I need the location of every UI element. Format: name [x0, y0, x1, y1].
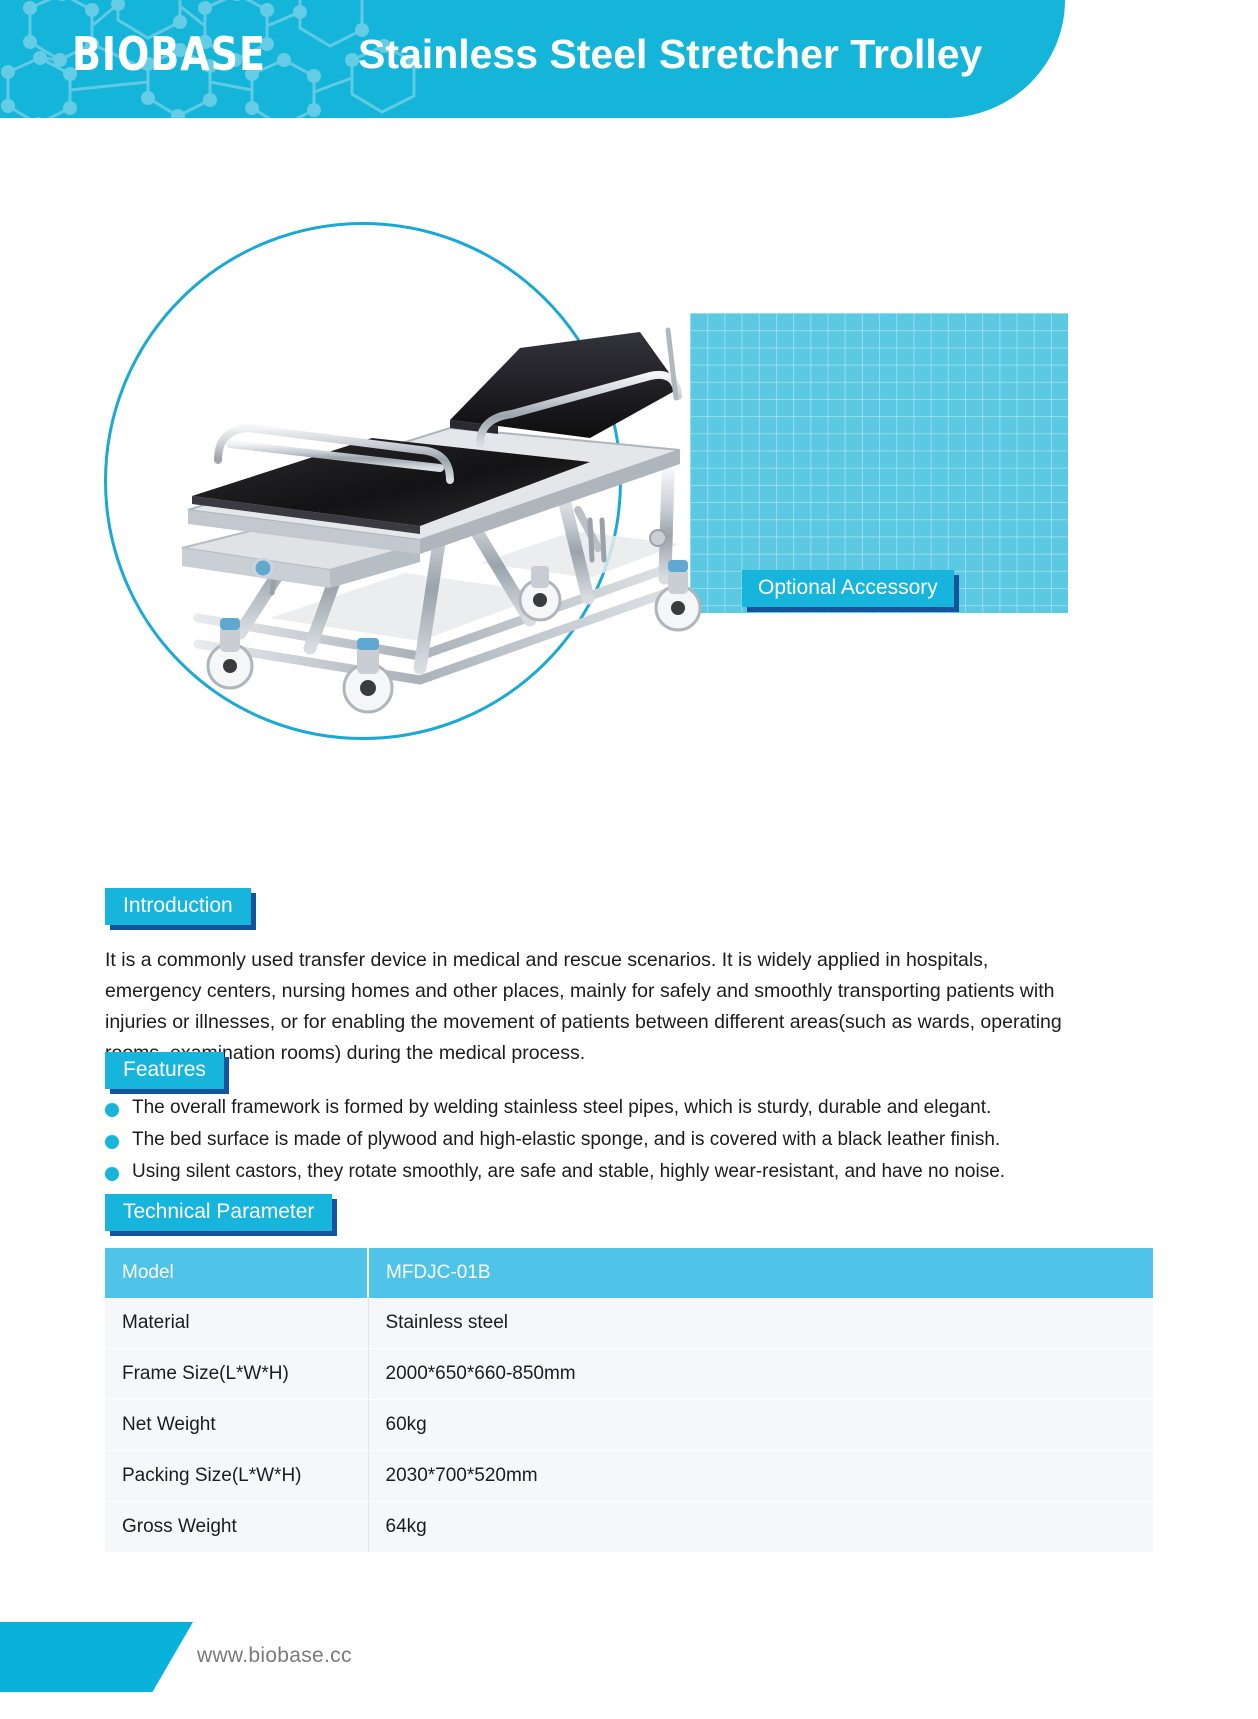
feature-text: Using silent castors, they rotate smooth…	[132, 1160, 1005, 1184]
table-cell-value: 2030*700*520mm	[368, 1451, 1153, 1502]
introduction-paragraph: It is a commonly used transfer device in…	[105, 945, 1073, 1069]
technical-parameter-badge: Technical Parameter	[105, 1194, 332, 1231]
table-row: Frame Size(L*W*H) 2000*650*660-850mm	[105, 1349, 1153, 1400]
table-cell-value: Stainless steel	[368, 1298, 1153, 1349]
table-row: Packing Size(L*W*H) 2030*700*520mm	[105, 1451, 1153, 1502]
list-item: The bed surface is made of plywood and h…	[105, 1128, 1105, 1152]
table-row: Material Stainless steel	[105, 1298, 1153, 1349]
features-badge: Features	[105, 1052, 224, 1089]
table-cell-value: MFDJC-01B	[368, 1248, 1153, 1298]
page-title: Stainless Steel Stretcher Trolley	[358, 31, 982, 78]
list-item: Using silent castors, they rotate smooth…	[105, 1160, 1105, 1184]
introduction-badge: Introduction	[105, 888, 251, 925]
table-cell-name: Material	[105, 1298, 368, 1349]
optional-accessory-badge: Optional Accessory	[742, 570, 954, 607]
feature-text: The bed surface is made of plywood and h…	[132, 1128, 1000, 1152]
table-cell-value: 60kg	[368, 1400, 1153, 1451]
brand-logo: BIOBASE	[72, 27, 266, 81]
table-cell-name: Frame Size(L*W*H)	[105, 1349, 368, 1400]
table-cell-name: Packing Size(L*W*H)	[105, 1451, 368, 1502]
hero-section: Optional Accessory ✳Infusion support	[0, 118, 1258, 818]
feature-text: The overall framework is formed by weldi…	[132, 1096, 991, 1120]
bullet-icon	[105, 1103, 119, 1117]
optional-accessory-panel: Optional Accessory ✳Infusion support	[690, 313, 1068, 613]
grid-pattern-icon	[690, 313, 1068, 613]
table-row: Model MFDJC-01B	[105, 1248, 1153, 1298]
features-list: The overall framework is formed by weldi…	[105, 1096, 1105, 1192]
list-item: The overall framework is formed by weldi…	[105, 1096, 1105, 1120]
table-row: Gross Weight 64kg	[105, 1502, 1153, 1553]
table-cell-value: 2000*650*660-850mm	[368, 1349, 1153, 1400]
table-cell-value: 64kg	[368, 1502, 1153, 1553]
footer-website-url: www.biobase.cc	[197, 1644, 352, 1668]
technical-parameter-table: Model MFDJC-01B Material Stainless steel…	[105, 1248, 1153, 1553]
table-cell-name: Gross Weight	[105, 1502, 368, 1553]
page-header: BIOBASE Stainless Steel Stretcher Trolle…	[0, 0, 1065, 118]
stretcher-trolley-image	[120, 248, 720, 718]
footer-accent-shape	[0, 1622, 193, 1692]
bullet-icon	[105, 1135, 119, 1149]
table-row: Net Weight 60kg	[105, 1400, 1153, 1451]
table-cell-name: Net Weight	[105, 1400, 368, 1451]
table-cell-name: Model	[105, 1248, 368, 1298]
product-datasheet-page: BIOBASE Stainless Steel Stretcher Trolle…	[0, 0, 1258, 1719]
bullet-icon	[105, 1167, 119, 1181]
